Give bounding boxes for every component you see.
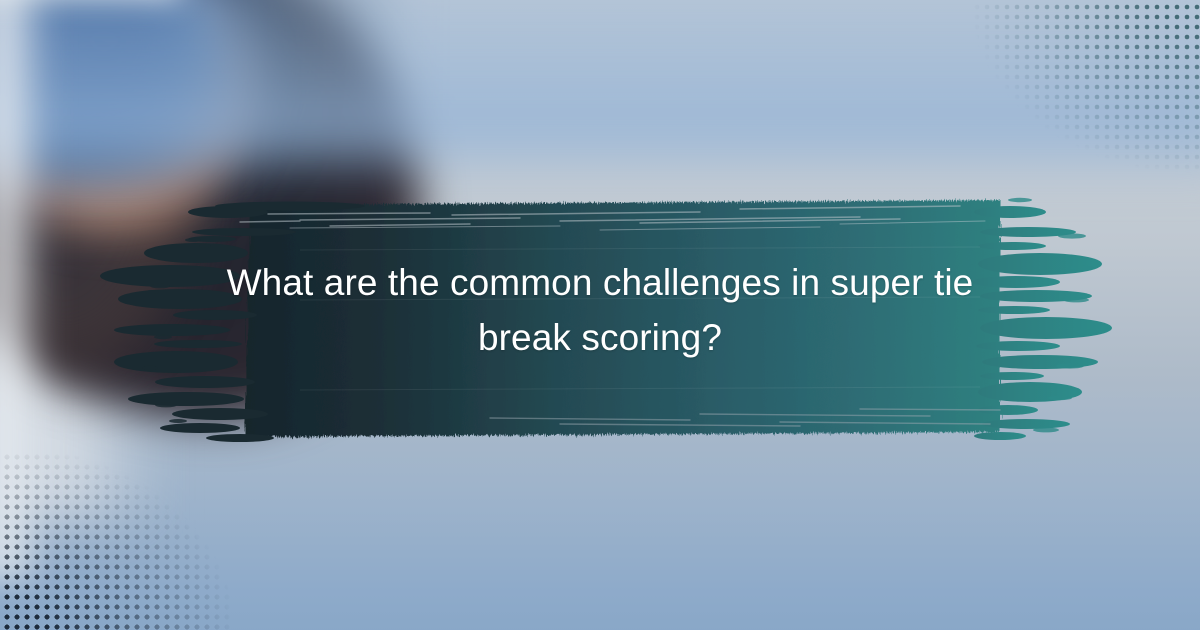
social-share-card: What are the common challenges in super … — [0, 0, 1200, 630]
page-title: What are the common challenges in super … — [160, 255, 1040, 365]
